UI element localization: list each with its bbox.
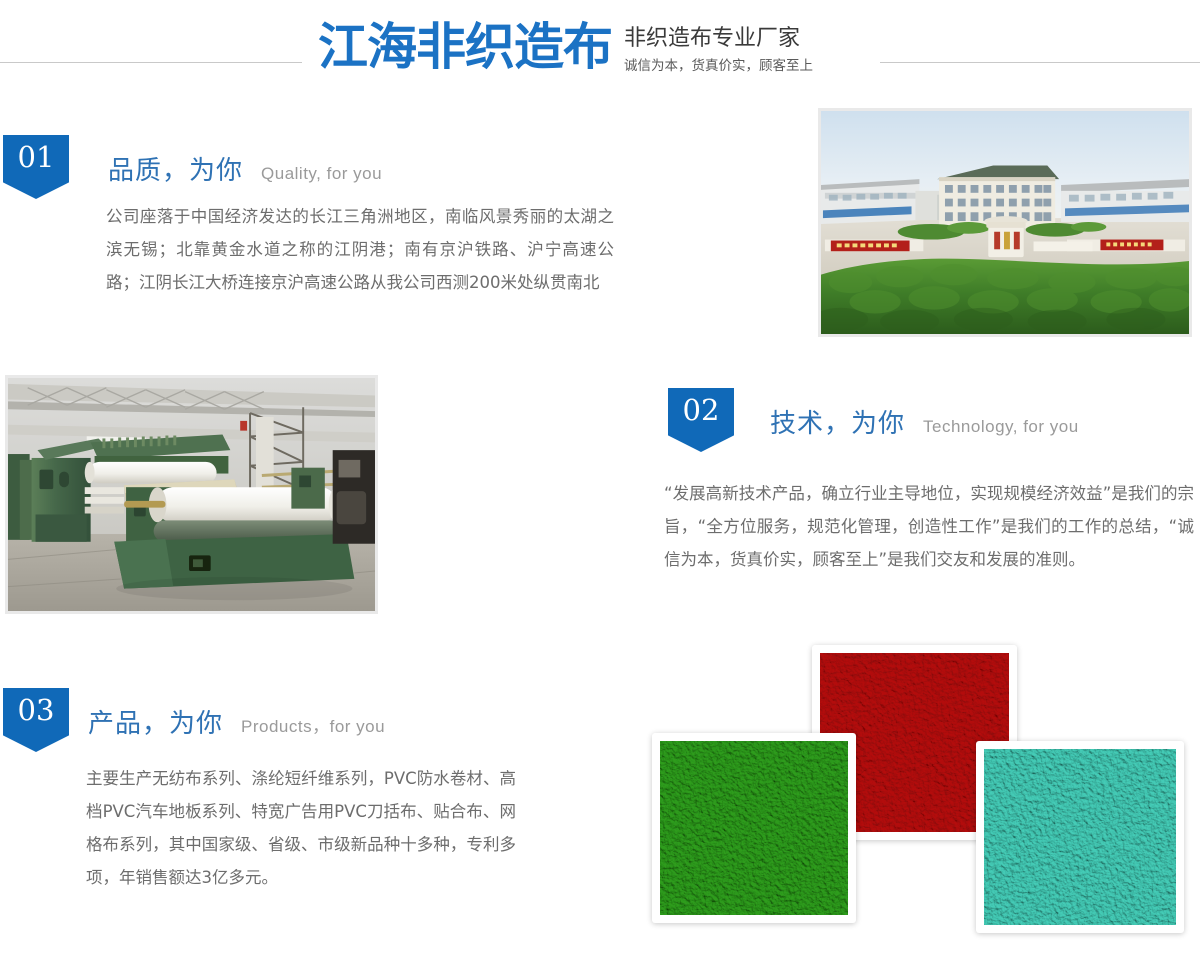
factory-building-photo xyxy=(818,108,1192,337)
section-body-02: “发展高新技术产品，确立行业主导地位，实现规模经济效益”是我们的宗旨，“全方位服… xyxy=(664,477,1194,576)
section-title-en-03: Products，for you xyxy=(241,712,385,737)
brand-title: 江海非织造布 xyxy=(318,18,612,76)
section-title-cn-02: 技术，为你 xyxy=(770,403,905,440)
header-rule-left xyxy=(0,62,302,63)
section-badge-01: 01 xyxy=(3,135,69,199)
nonwoven-machine-photo xyxy=(5,375,378,614)
section-badge-02: 02 xyxy=(668,388,734,452)
nonwoven-machine-illustration xyxy=(8,378,375,611)
brand-subtitle: 非织造布专业厂家 xyxy=(624,24,813,54)
header-rule-right xyxy=(880,62,1200,63)
factory-building-illustration xyxy=(821,111,1189,334)
teal-pvc-texture xyxy=(984,749,1176,925)
teal-leather-texture xyxy=(984,749,1176,925)
section-title-cn-03: 产品，为你 xyxy=(88,703,223,740)
section-heading-01: 品质，为你 Quality, for you xyxy=(108,150,382,187)
section-title-en-01: Quality, for you xyxy=(261,164,382,184)
teal-pvc-swatch xyxy=(976,741,1184,933)
green-leather-texture xyxy=(660,741,848,915)
section-title-en-02: Technology, for you xyxy=(923,417,1079,437)
section-badge-03: 03 xyxy=(3,688,69,752)
section-body-03: 主要生产无纺布系列、涤纶短纤维系列，PVC防水卷材、高档PVC汽车地板系列、特宽… xyxy=(86,762,516,894)
section-heading-02: 技术，为你 Technology, for you xyxy=(770,403,1079,440)
page-header: 江海非织造布 非织造布专业厂家 诚信为本，货真价实，顾客至上 xyxy=(0,0,1200,100)
section-title-cn-01: 品质，为你 xyxy=(108,150,243,187)
brand-block: 江海非织造布 非织造布专业厂家 诚信为本，货真价实，顾客至上 xyxy=(318,18,813,76)
section-body-01: 公司座落于中国经济发达的长江三角洲地区，南临风景秀丽的太湖之滨无锡；北靠黄金水道… xyxy=(106,200,614,299)
brand-slogan: 诚信为本，货真价实，顾客至上 xyxy=(624,56,813,76)
green-pvc-texture xyxy=(660,741,848,915)
green-pvc-swatch xyxy=(652,733,856,923)
brand-text-group: 非织造布专业厂家 诚信为本，货真价实，顾客至上 xyxy=(624,18,813,76)
section-heading-03: 产品，为你 Products，for you xyxy=(88,703,385,740)
